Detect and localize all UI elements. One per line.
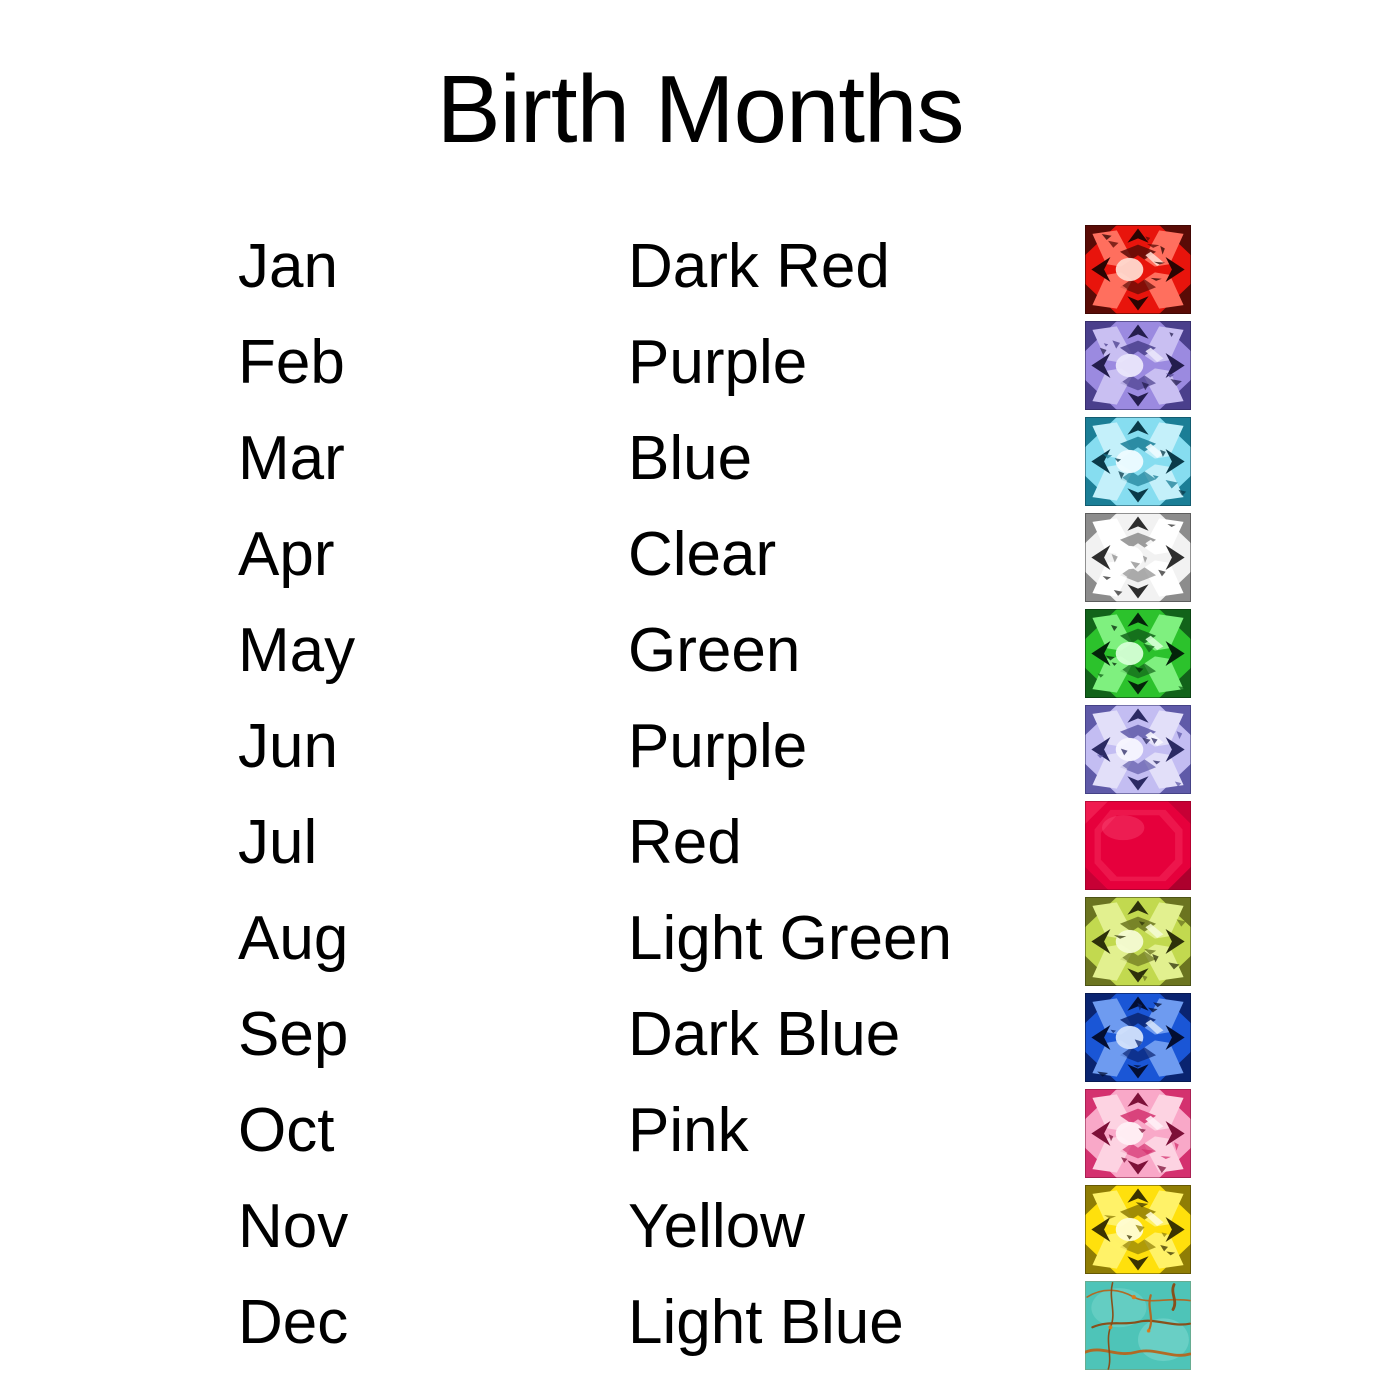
color-name-label: Light Green bbox=[628, 894, 952, 990]
birth-month-row: MarBlue bbox=[0, 414, 1400, 510]
emerald-gem-icon bbox=[1085, 609, 1191, 698]
birth-months-page: Birth Months JanDark RedFebPurpleMarBlue… bbox=[0, 0, 1400, 1400]
month-label: Sep bbox=[238, 990, 348, 1086]
amethyst-gem-icon bbox=[1085, 321, 1191, 410]
month-label: Aug bbox=[238, 894, 348, 990]
color-name-label: Pink bbox=[628, 1086, 749, 1182]
birth-month-row: AugLight Green bbox=[0, 894, 1400, 990]
color-name-label: Dark Blue bbox=[628, 990, 900, 1086]
color-name-label: Yellow bbox=[628, 1182, 805, 1278]
alexandrite-gem-icon bbox=[1085, 705, 1191, 794]
diamond-gem-icon bbox=[1085, 513, 1191, 602]
birth-month-row: AprClear bbox=[0, 510, 1400, 606]
tourmaline-gem-icon bbox=[1085, 1089, 1191, 1178]
month-label: Jul bbox=[238, 798, 317, 894]
ruby-gem-icon bbox=[1085, 801, 1191, 890]
birth-month-row: JanDark Red bbox=[0, 222, 1400, 318]
month-label: Mar bbox=[238, 414, 345, 510]
citrine-gem-icon bbox=[1085, 1185, 1191, 1274]
month-label: May bbox=[238, 606, 355, 702]
color-name-label: Dark Red bbox=[628, 222, 890, 318]
birth-month-row: OctPink bbox=[0, 1086, 1400, 1182]
color-name-label: Purple bbox=[628, 702, 807, 798]
birth-month-row: DecLight Blue bbox=[0, 1278, 1400, 1374]
color-name-label: Green bbox=[628, 606, 800, 702]
month-label: Feb bbox=[238, 318, 345, 414]
birth-month-row: SepDark Blue bbox=[0, 990, 1400, 1086]
month-label: Oct bbox=[238, 1086, 334, 1182]
color-name-label: Red bbox=[628, 798, 742, 894]
sapphire-gem-icon bbox=[1085, 993, 1191, 1082]
month-label: Nov bbox=[238, 1182, 348, 1278]
birth-month-row: MayGreen bbox=[0, 606, 1400, 702]
color-name-label: Light Blue bbox=[628, 1278, 904, 1374]
color-name-label: Blue bbox=[628, 414, 752, 510]
aquamarine-gem-icon bbox=[1085, 417, 1191, 506]
birth-month-row: NovYellow bbox=[0, 1182, 1400, 1278]
month-label: Dec bbox=[238, 1278, 348, 1374]
turquoise-gem-icon bbox=[1085, 1281, 1191, 1370]
month-label: Jun bbox=[238, 702, 338, 798]
birth-month-row: JunPurple bbox=[0, 702, 1400, 798]
birth-month-list: JanDark RedFebPurpleMarBlueAprClearMayGr… bbox=[0, 222, 1400, 1374]
peridot-gem-icon bbox=[1085, 897, 1191, 986]
garnet-gem-icon bbox=[1085, 225, 1191, 314]
month-label: Apr bbox=[238, 510, 334, 606]
birth-month-row: FebPurple bbox=[0, 318, 1400, 414]
color-name-label: Purple bbox=[628, 318, 807, 414]
page-title: Birth Months bbox=[0, 62, 1400, 158]
month-label: Jan bbox=[238, 222, 338, 318]
color-name-label: Clear bbox=[628, 510, 776, 606]
birth-month-row: JulRed bbox=[0, 798, 1400, 894]
